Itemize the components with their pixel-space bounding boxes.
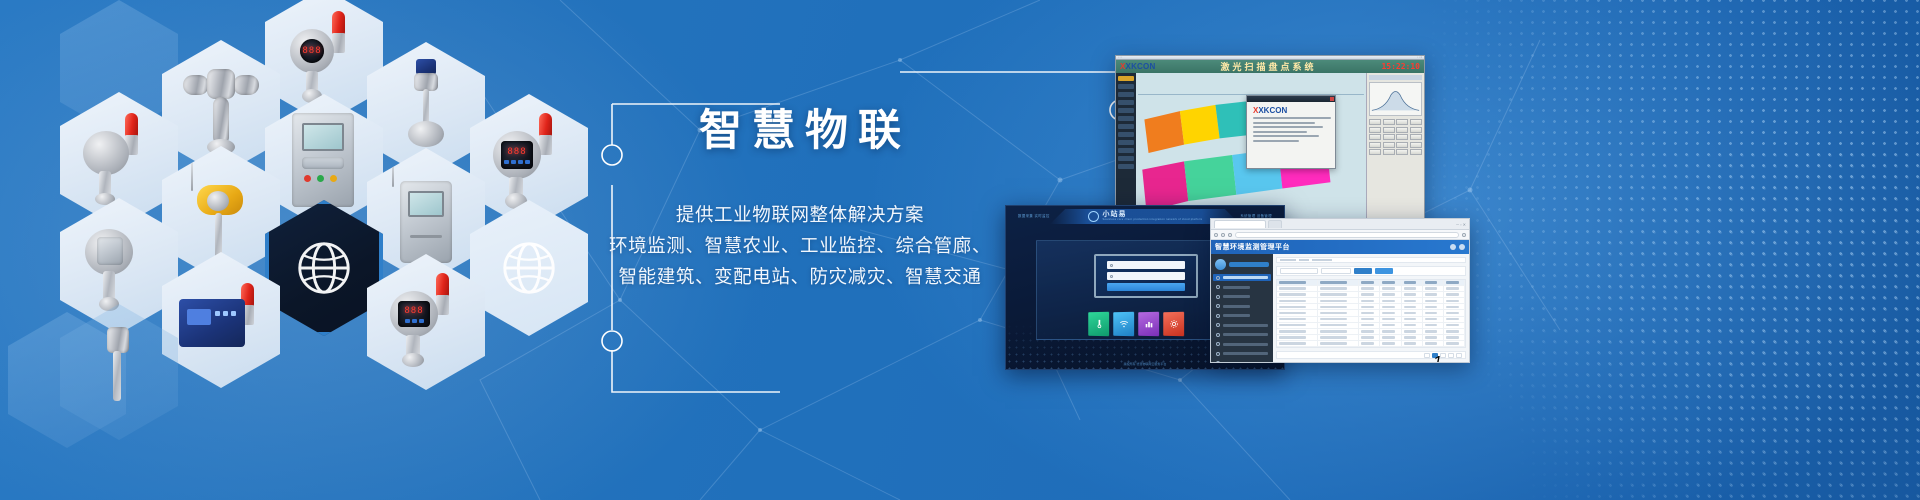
menu-icon[interactable] <box>1462 233 1466 237</box>
admin-filter-toolbar[interactable] <box>1276 266 1466 276</box>
users-icon <box>1216 352 1220 356</box>
monitor-icon <box>1216 323 1220 327</box>
table-row <box>1277 341 1465 347</box>
list-icon <box>1216 285 1220 289</box>
sidebar-item-device-status[interactable] <box>1213 312 1271 319</box>
admin-nav[interactable] <box>1213 274 1271 363</box>
report-icon <box>1216 342 1220 346</box>
banner-subtitle-line-2: 环境监测、智慧农业、工业监控、综合管廊、 <box>560 230 1040 261</box>
lidar-right-panel[interactable] <box>1366 73 1424 231</box>
filter-date-input[interactable] <box>1321 268 1351 274</box>
sidebar-item-device-list[interactable] <box>1213 284 1271 291</box>
sidebar-item-device-management[interactable] <box>1213 274 1271 281</box>
admin-header-actions[interactable] <box>1450 244 1465 250</box>
lidar-dialog-brand: XXKCON <box>1247 102 1335 117</box>
filter-keyword-input[interactable] <box>1280 268 1318 274</box>
page-current[interactable]: 1 <box>1432 353 1438 358</box>
admin-content: 1 <box>1273 254 1469 362</box>
group-icon <box>1216 295 1220 299</box>
breadcrumb[interactable] <box>1276 257 1466 263</box>
status-icon <box>1216 314 1220 318</box>
admin-header: 智慧环境监测管理平台 <box>1211 240 1469 254</box>
admin-sidebar[interactable] <box>1211 254 1273 362</box>
chart-icon <box>1144 319 1154 329</box>
banner-subtitle-group: 提供工业物联网整体解决方案 环境监测、智慧农业、工业监控、综合管廊、 智能建筑、… <box>560 199 1040 292</box>
admin-data-table[interactable] <box>1276 279 1466 348</box>
sidebar-item-device-group[interactable] <box>1213 293 1271 300</box>
sidebar-item-system-settings[interactable] <box>1213 360 1271 364</box>
pagination[interactable]: 1 <box>1276 351 1466 359</box>
viz-corner-left-text: 数据采集 实时监控 <box>1018 213 1050 218</box>
viz-password-input[interactable] <box>1107 272 1185 280</box>
lidar-brand-logo: XXKCON <box>1120 62 1155 71</box>
page-2[interactable] <box>1440 353 1446 358</box>
viz-tile-monitoring[interactable] <box>1088 312 1109 336</box>
admin-main: 1 <box>1211 254 1469 362</box>
browser-urlbar[interactable] <box>1211 230 1469 240</box>
browser-tabstrip[interactable]: ─ ▫ ✕ <box>1211 219 1469 230</box>
connector-node-lower-left <box>602 331 622 351</box>
page-prev[interactable] <box>1424 353 1430 358</box>
lidar-brand-logo-text: XKCON <box>1126 62 1156 71</box>
gear-icon <box>1216 361 1220 363</box>
lidar-signal-graph <box>1369 82 1422 116</box>
user-role-badge <box>1229 262 1269 267</box>
banner-subtitle-line-1: 提供工业物联网整体解决方案 <box>560 199 1040 230</box>
screen-iot-admin-dashboard: ─ ▫ ✕ 智慧环境监测管理平台 <box>1210 218 1470 363</box>
lidar-window-title: 激光扫描盘点系统 <box>1220 60 1316 73</box>
window-controls[interactable]: ─ ▫ ✕ <box>1456 222 1466 227</box>
notification-icon <box>1450 244 1456 250</box>
back-icon[interactable] <box>1214 233 1218 237</box>
thermometer-icon <box>1094 319 1104 329</box>
lidar-tool-buttons[interactable] <box>1369 119 1422 155</box>
gear-icon <box>1169 319 1179 329</box>
banner-subtitle-line-3: 智能建筑、变配电站、防灾减灾、智慧交通 <box>560 261 1040 292</box>
lidar-graph-curve <box>1370 83 1421 115</box>
admin-header-title: 智慧环境监测管理平台 <box>1215 242 1290 252</box>
admin-user-profile[interactable] <box>1213 257 1271 274</box>
lidar-header: XXKCON 激光扫描盘点系统 15:22:10 <box>1116 60 1424 73</box>
lidar-about-dialog[interactable]: XXKCON <box>1246 95 1336 169</box>
viz-brand-subtitle: Seamless core client production integrat… <box>1103 219 1203 222</box>
bell-icon <box>1216 333 1220 337</box>
browser-tab-new[interactable] <box>1268 220 1282 228</box>
lidar-clock: 15:22:10 <box>1381 62 1420 71</box>
lidar-panel-title <box>1369 75 1422 80</box>
software-screenshots-group: ▫ ▫ ▫▫ ▫ × XXKCON 激光扫描盘点系统 15:22:10 <box>1000 0 1920 500</box>
viz-login-card[interactable] <box>1094 254 1198 298</box>
search-button[interactable] <box>1354 268 1372 274</box>
browser-tab[interactable] <box>1214 220 1266 228</box>
lock-icon <box>1110 275 1113 278</box>
page-3[interactable] <box>1448 353 1454 358</box>
forward-icon[interactable] <box>1221 233 1225 237</box>
account-icon <box>1459 244 1465 250</box>
wifi-icon <box>1119 319 1129 329</box>
device-icon <box>1216 276 1220 280</box>
export-button[interactable] <box>1375 268 1393 274</box>
viz-tile-remote-control[interactable] <box>1113 312 1134 336</box>
sidebar-item-user-management[interactable] <box>1213 350 1271 357</box>
viz-emblem-icon <box>1088 211 1099 222</box>
viz-tile-operation-management[interactable] <box>1163 312 1184 336</box>
avatar <box>1215 259 1226 270</box>
viz-username-input[interactable] <box>1107 261 1185 269</box>
sidebar-item-reports[interactable] <box>1213 341 1271 348</box>
viz-feature-tiles[interactable] <box>1088 312 1184 336</box>
type-icon <box>1216 304 1220 308</box>
sidebar-item-device-type[interactable] <box>1213 303 1271 310</box>
viz-login-button[interactable] <box>1107 283 1185 291</box>
page-title: 智慧物联 <box>560 108 1040 155</box>
sidebar-item-alarm-records[interactable] <box>1213 331 1271 338</box>
page-next[interactable] <box>1456 353 1462 358</box>
lidar-dialog-info-lines <box>1247 117 1335 142</box>
hero-banner: 888 <box>0 0 1920 500</box>
reload-icon[interactable] <box>1228 233 1232 237</box>
url-input[interactable] <box>1235 232 1459 238</box>
viz-tile-data-analysis[interactable] <box>1138 312 1159 336</box>
banner-text-block: 智慧物联 提供工业物联网整体解决方案 环境监测、智慧农业、工业监控、综合管廊、 … <box>560 108 1040 292</box>
user-icon <box>1110 264 1113 267</box>
sidebar-item-data-monitor[interactable] <box>1213 322 1271 329</box>
